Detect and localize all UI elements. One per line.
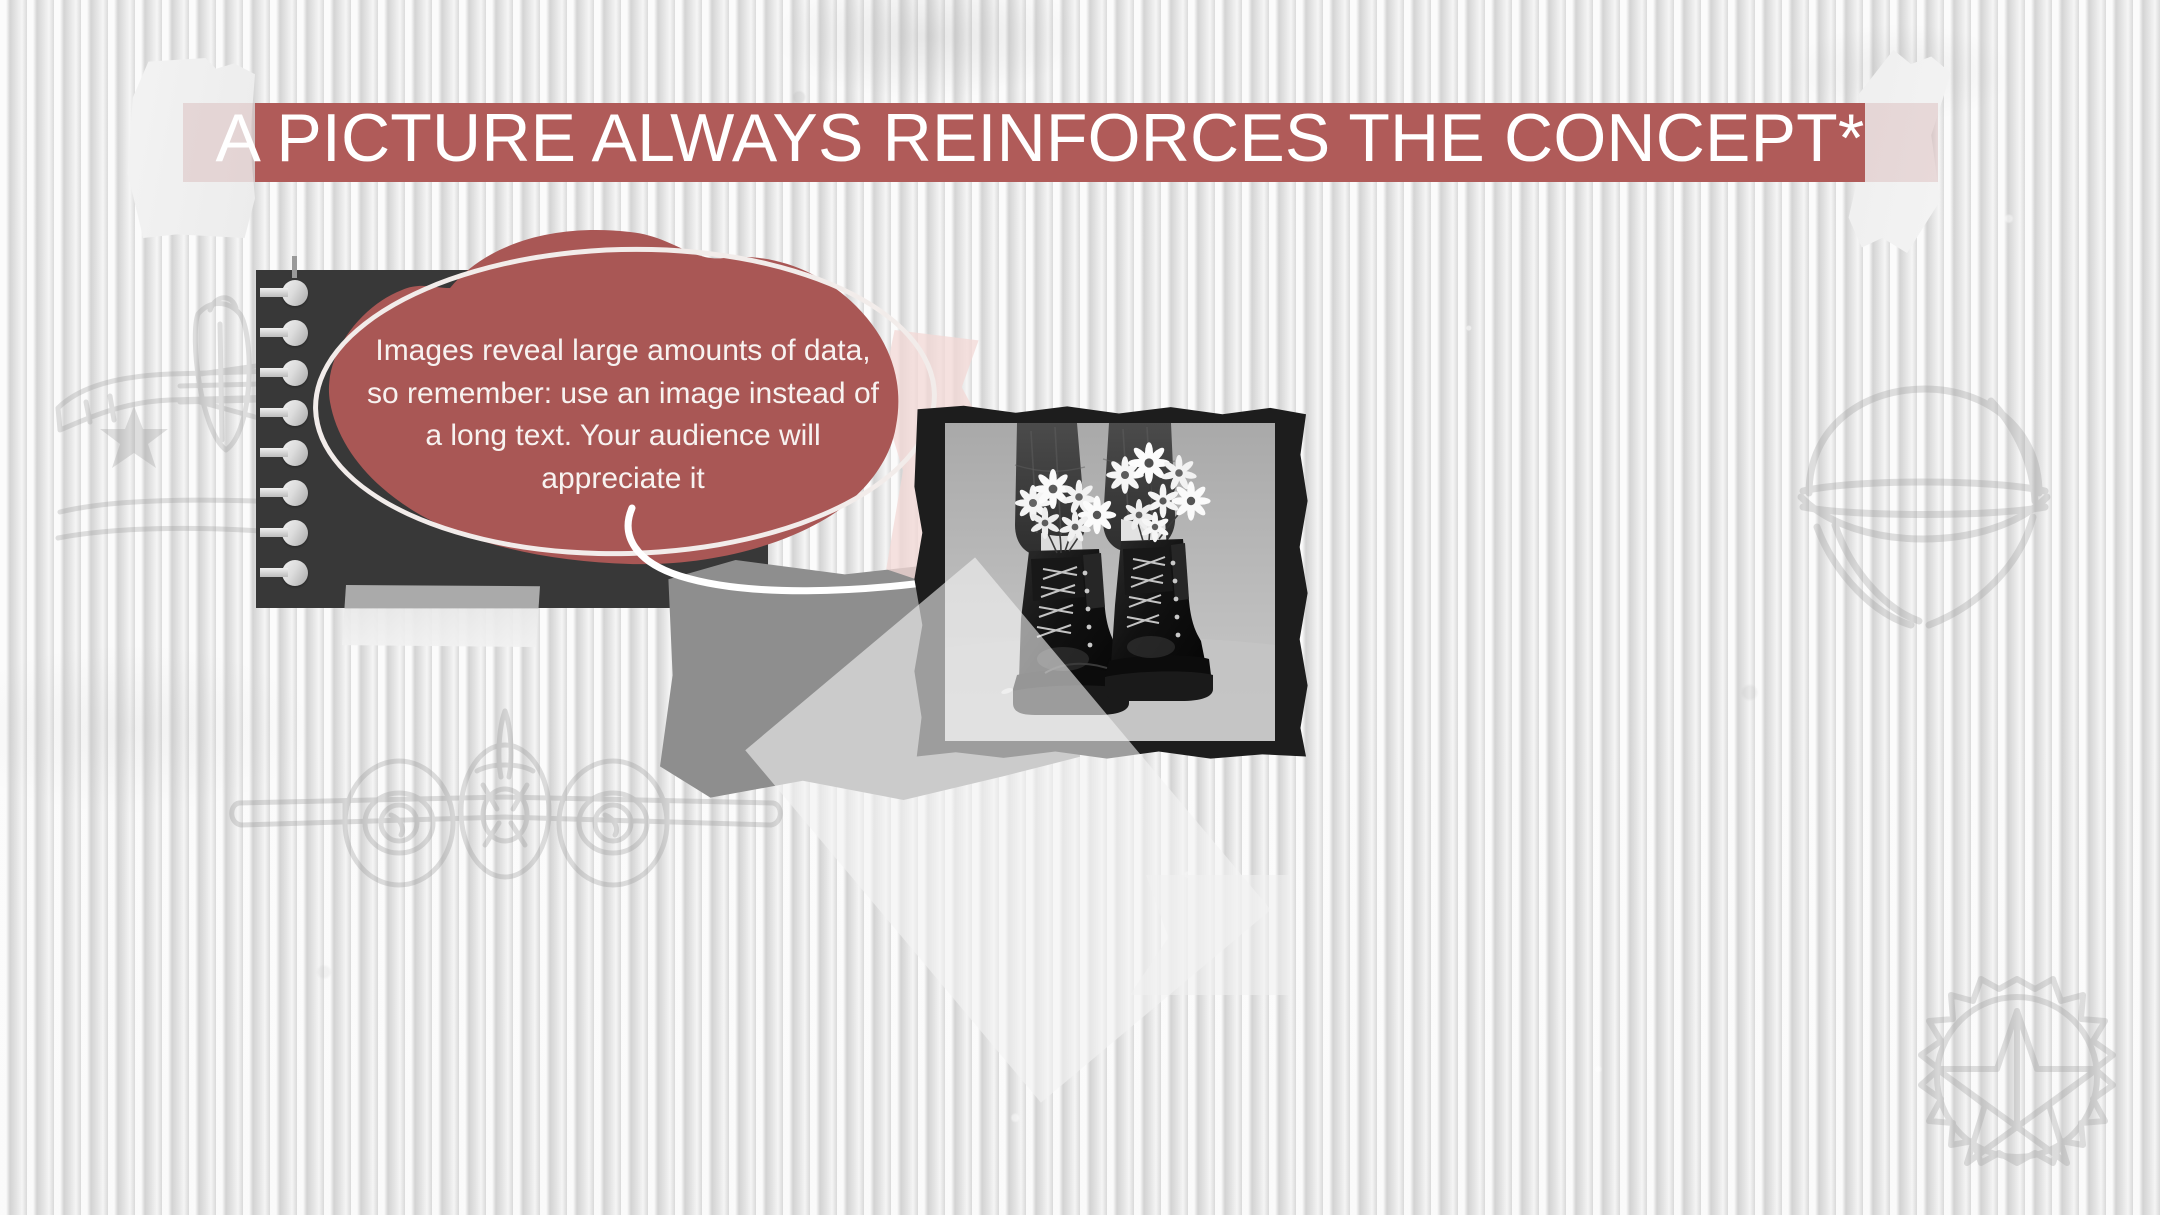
page-title: A PICTURE ALWAYS REINFORCES THE CONCEPT* (160, 102, 1920, 175)
washi-tape-strip (340, 585, 540, 647)
body-text: Images reveal large amounts of data, so … (348, 330, 898, 500)
presentation-slide: A PICTURE ALWAYS REINFORCES THE CONCEPT*… (0, 0, 2160, 1215)
